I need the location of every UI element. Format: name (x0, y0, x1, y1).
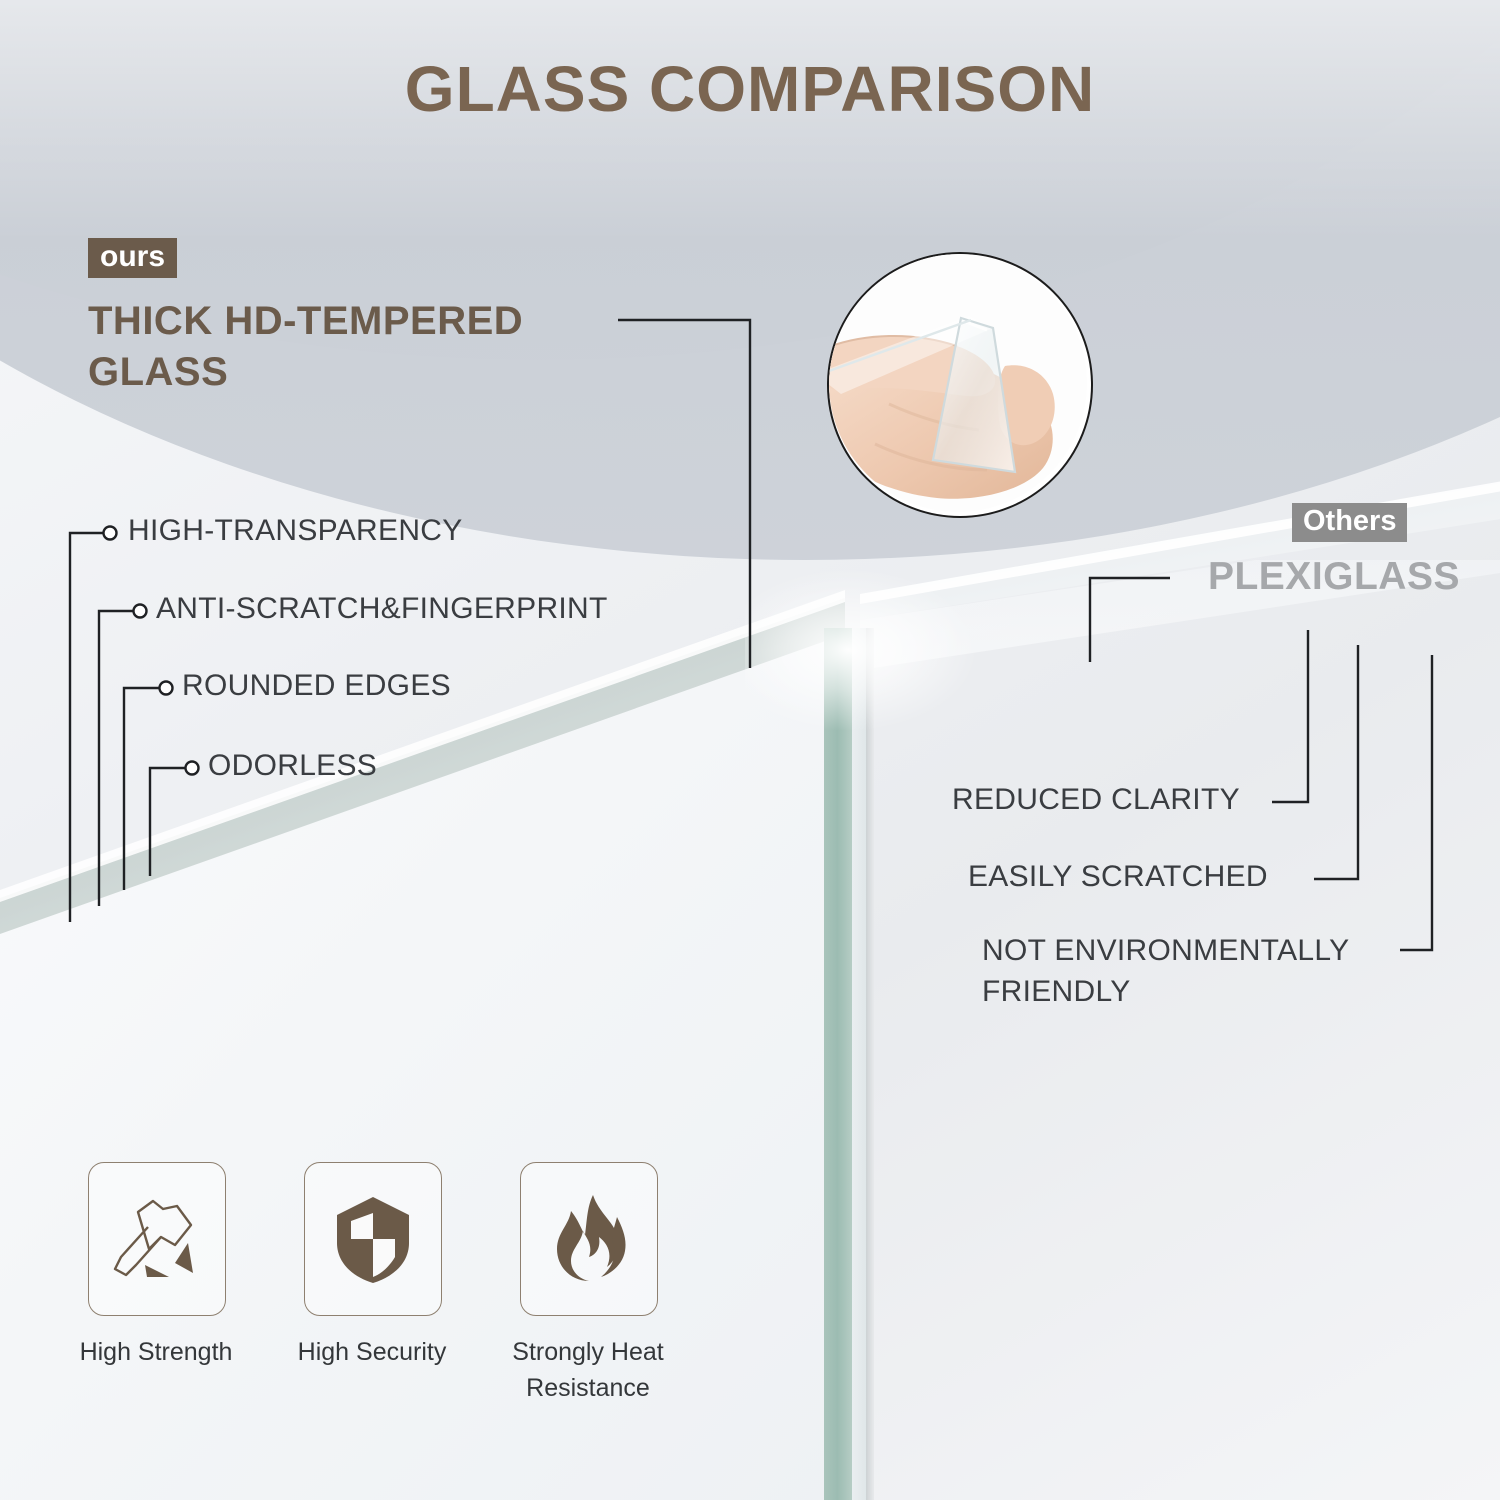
benefit-caption-3: Strongly Heat Resistance (468, 1334, 708, 1407)
flame-icon (537, 1187, 641, 1291)
feature-label-1: HIGH-TRANSPARENCY (128, 514, 463, 548)
glass-right-rim (866, 628, 874, 1500)
ours-badge: ours (88, 238, 177, 278)
others-badge: Others (1292, 503, 1407, 542)
ours-product-title: THICK HD-TEMPERED GLASS (88, 296, 648, 398)
page-title: GLASS COMPARISON (0, 52, 1500, 126)
hammer-shard-left (145, 1265, 169, 1277)
others-product-title: PLEXIGLASS (1208, 555, 1460, 599)
shield-icon (321, 1187, 425, 1291)
feature-label-3: ROUNDED EDGES (182, 669, 451, 703)
hammer-icon (105, 1187, 209, 1291)
benefit-card-high-security (304, 1162, 442, 1316)
hand-glass-illustration (829, 254, 1087, 512)
infographic-canvas: GLASS COMPARISON ours THICK HD-TEMPERED … (0, 0, 1500, 1500)
benefit-caption-2: High Security (252, 1334, 492, 1370)
drawback-label-3: NOT ENVIRONMENTALLY FRIENDLY (982, 931, 1402, 1012)
drawback-label-1: REDUCED CLARITY (952, 783, 1282, 817)
benefit-cards: High Strength High Security Strongly Hea… (88, 1162, 728, 1452)
hammer-shard-right (175, 1243, 193, 1273)
benefit-card-heat-resistance (520, 1162, 658, 1316)
benefit-card-high-strength (88, 1162, 226, 1316)
feature-label-2: ANTI-SCRATCH&FINGERPRINT (156, 592, 608, 626)
feature-label-4: ODORLESS (208, 749, 377, 783)
inset-photo-hand-holding-glass (827, 252, 1093, 518)
drawback-label-2: EASILY SCRATCHED (968, 860, 1323, 894)
benefit-caption-1: High Strength (36, 1334, 276, 1370)
glass-green-side-edge (824, 628, 854, 1500)
